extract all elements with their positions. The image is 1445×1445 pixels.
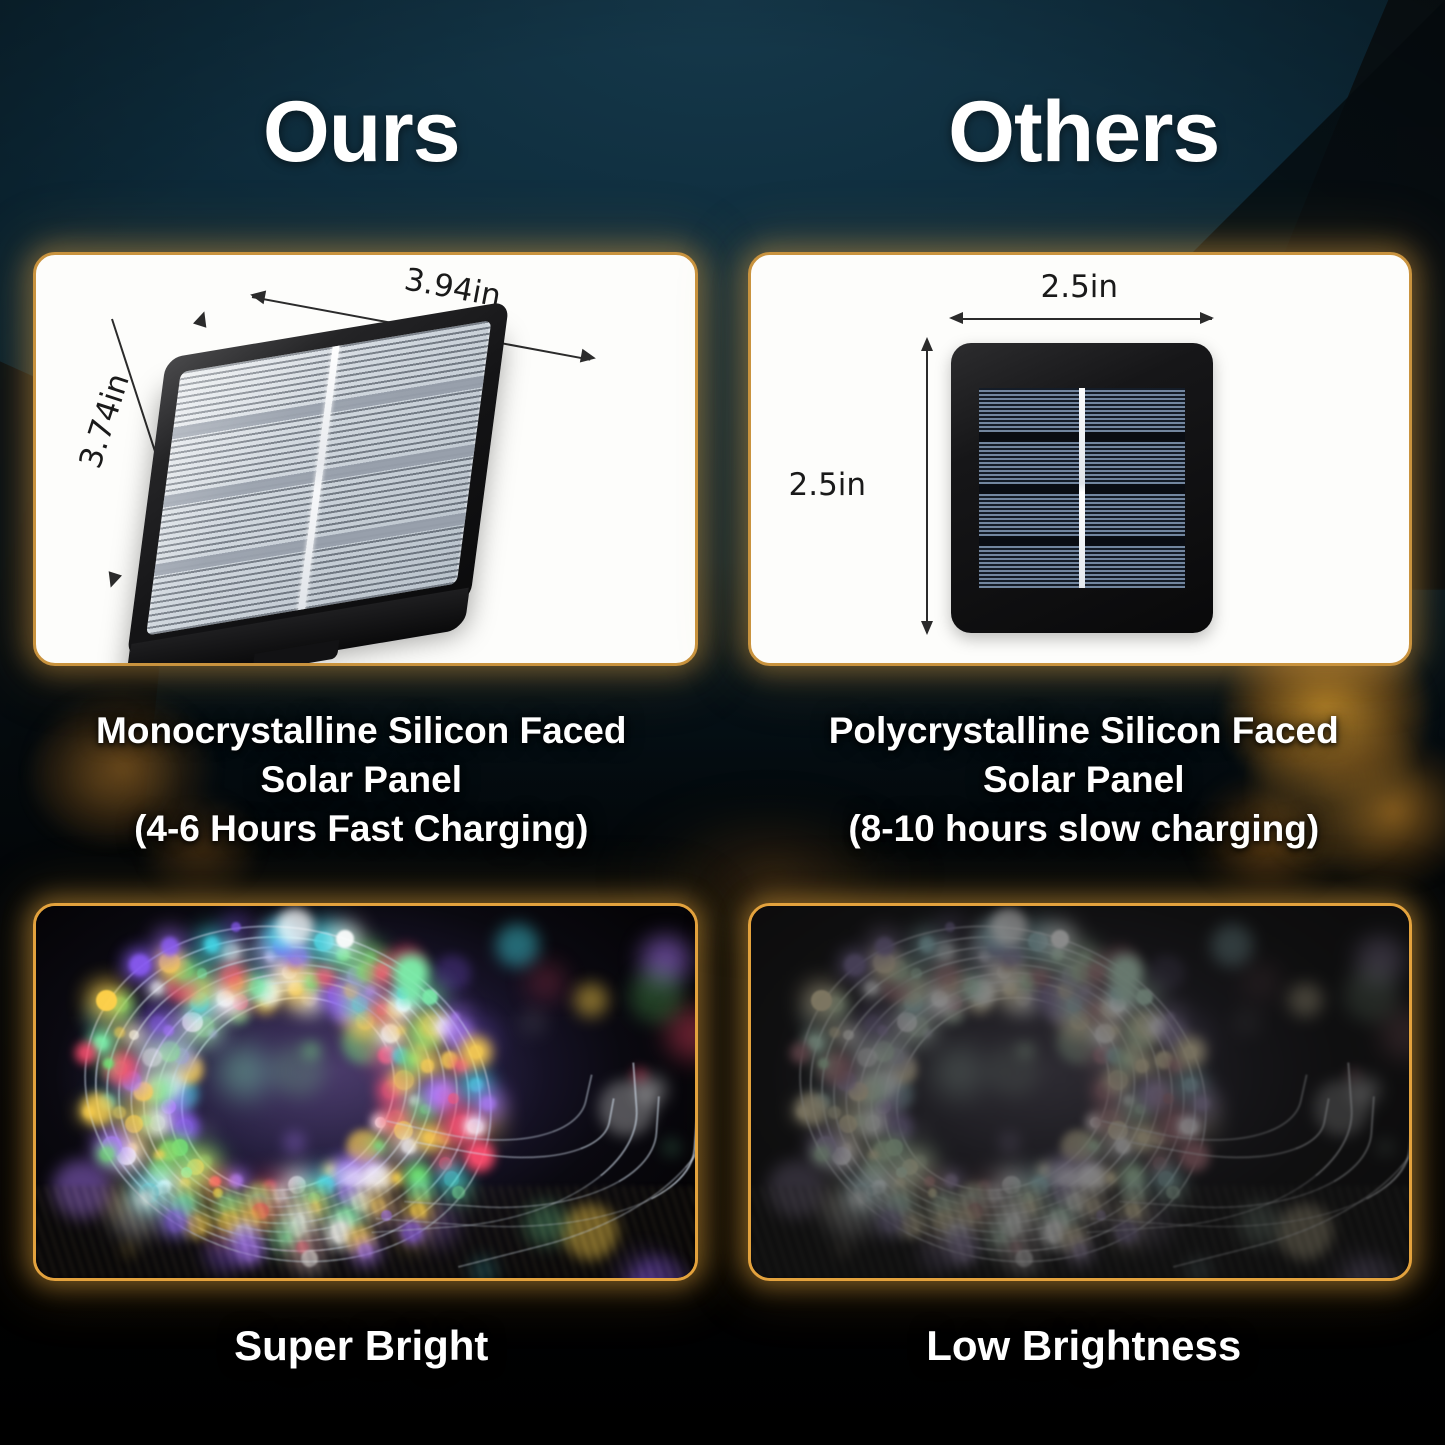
- dim-lights-photo-card: [748, 903, 1413, 1281]
- others-width-dimension-line: [954, 318, 1212, 320]
- others-panel-glass: [979, 388, 1185, 588]
- photo-overall-glow: [36, 906, 695, 1278]
- others-height-arrow-bottom: [921, 621, 933, 635]
- ours-height-arrow-bottom: [104, 571, 122, 590]
- ours-panel-illustration: 3.94in 3.74in: [36, 255, 695, 663]
- others-height-dimension-line: [926, 343, 928, 633]
- others-caption-line-2: Solar Panel: [753, 755, 1416, 804]
- others-height-label: 2.5in: [789, 467, 867, 503]
- others-width-arrow-right: [1200, 312, 1214, 324]
- ours-panel-card: 3.94in 3.74in: [33, 252, 698, 666]
- dim-lights-photo: [751, 906, 1410, 1278]
- heading-others: Others: [723, 82, 1445, 192]
- heading-ours: Ours: [0, 82, 723, 192]
- others-width-arrow-left: [949, 312, 963, 324]
- others-panel-caption: Polycrystalline Silicon Faced Solar Pane…: [723, 706, 1445, 866]
- photo-cards-row: [33, 903, 1412, 1281]
- panel-cards-row: 3.94in 3.74in: [33, 252, 1412, 666]
- bright-lights-photo-card: [33, 903, 698, 1281]
- others-caption-line-1: Polycrystalline Silicon Faced: [753, 706, 1416, 755]
- bright-lights-photo: [36, 906, 695, 1278]
- others-panel-card: 2.5in 2.5in: [748, 252, 1413, 666]
- low-brightness-caption: Low Brightness: [723, 1316, 1445, 1406]
- super-bright-caption: Super Bright: [0, 1316, 723, 1406]
- ours-width-arrow-left: [249, 288, 266, 304]
- others-height-arrow-top: [921, 337, 933, 351]
- ours-height-arrow-top: [193, 309, 211, 328]
- panel-captions-row: Monocrystalline Silicon Faced Solar Pane…: [0, 706, 1445, 866]
- others-solar-panel: [951, 343, 1213, 633]
- others-width-label: 2.5in: [1041, 269, 1119, 305]
- others-busbar: [1079, 388, 1085, 588]
- ours-panel-caption: Monocrystalline Silicon Faced Solar Pane…: [0, 706, 723, 866]
- ours-solar-panel: [127, 301, 510, 659]
- ours-width-arrow-right: [580, 349, 597, 365]
- others-panel-illustration: 2.5in 2.5in: [751, 255, 1410, 663]
- others-caption-line-3: (8-10 hours slow charging): [753, 804, 1416, 853]
- photo-captions-row: Super Bright Low Brightness: [0, 1316, 1445, 1406]
- ours-caption-line-3: (4-6 Hours Fast Charging): [30, 804, 693, 853]
- comparison-infographic: Ours Others 3.94in 3.74in: [0, 0, 1445, 1445]
- ours-caption-line-1: Monocrystalline Silicon Faced: [30, 706, 693, 755]
- ours-height-label: 3.74in: [72, 369, 136, 473]
- ours-caption-line-2: Solar Panel: [30, 755, 693, 804]
- photo-overall-glow: [751, 906, 1410, 1278]
- headings-row: Ours Others: [0, 82, 1445, 192]
